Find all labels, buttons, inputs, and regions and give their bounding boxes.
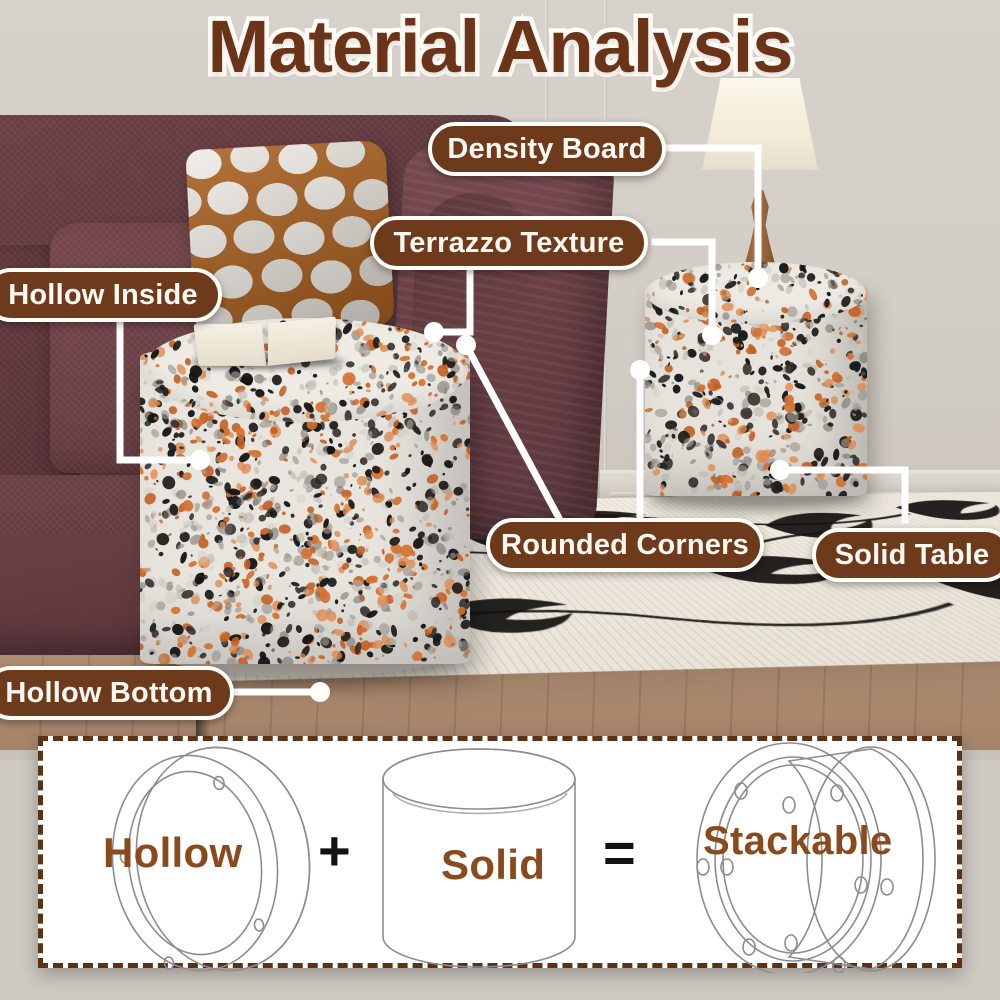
diagram-label-stackable: Stackable xyxy=(703,819,892,864)
callout-density-board-label: Density Board xyxy=(447,135,646,164)
callout-solid-table[interactable]: Solid Table xyxy=(812,528,1000,582)
open-book xyxy=(195,318,337,371)
callout-hollow-bottom-label: Hollow Bottom xyxy=(5,679,212,708)
diagram-label-hollow: Hollow xyxy=(103,829,242,877)
callout-hollow-inside-label: Hollow Inside xyxy=(8,281,198,310)
callout-rounded-corners[interactable]: Rounded Corners xyxy=(486,518,764,572)
diagram-label-solid: Solid xyxy=(441,841,545,889)
callout-solid-table-label: Solid Table xyxy=(835,541,990,570)
callout-terrazzo-texture[interactable]: Terrazzo Texture xyxy=(370,216,648,270)
equals-operator: = xyxy=(603,825,634,881)
plus-operator: + xyxy=(318,823,351,879)
table-lamp xyxy=(690,78,830,278)
terrazzo-table-large xyxy=(140,318,470,683)
book-page-left xyxy=(193,324,266,366)
book-page-right xyxy=(268,316,336,365)
callout-rounded-corners-label: Rounded Corners xyxy=(501,531,749,560)
callout-terrazzo-texture-label: Terrazzo Texture xyxy=(394,229,625,258)
table-small-top xyxy=(646,262,866,324)
infographic-canvas: Material Analysis Density Board Terrazzo… xyxy=(0,0,1000,1000)
equation-diagram-panel: Hollow + Solid = Stackable xyxy=(38,736,962,968)
callout-hollow-inside[interactable]: Hollow Inside xyxy=(0,268,222,322)
callout-hollow-bottom[interactable]: Hollow Bottom xyxy=(0,666,234,720)
callout-density-board[interactable]: Density Board xyxy=(428,122,666,176)
page-title: Material Analysis xyxy=(0,8,1000,86)
terrazzo-speckle-small-top xyxy=(646,262,866,324)
lamp-shade xyxy=(702,78,818,170)
terrazzo-table-small xyxy=(645,262,867,512)
